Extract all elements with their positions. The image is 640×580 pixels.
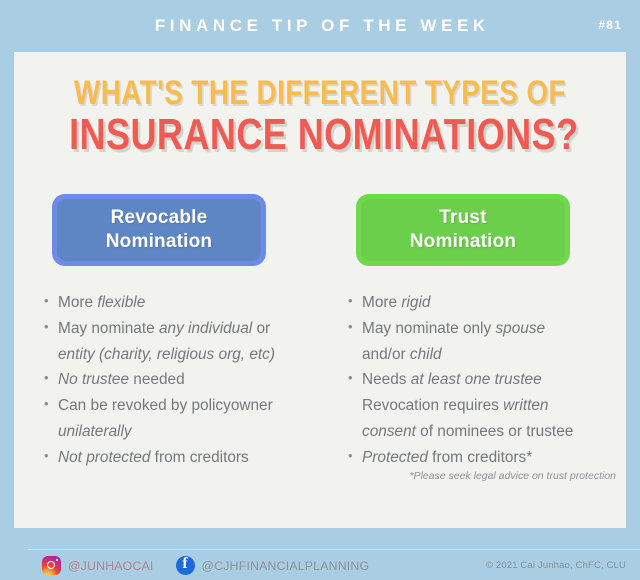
social-link-facebook[interactable]: @CJHFINANCIALPLANNING	[176, 556, 370, 575]
list-item: More rigid	[346, 292, 618, 315]
header-title: FINANCE TIP OF THE WEEK	[0, 16, 640, 36]
column-revocable-nomination: Revocable Nomination More flexibleMay no…	[24, 194, 316, 473]
bullet-list-trust: More rigidMay nominate only spouseand/or…	[346, 292, 618, 470]
list-item: May nominate any individual or	[42, 318, 310, 341]
poster: FINANCE TIP OF THE WEEK #81 WHAT'S THE D…	[0, 0, 640, 536]
page-title: WHAT'S THE DIFFERENT TYPES OF INSURANCE …	[14, 76, 626, 158]
list-item: May nominate only spouse	[346, 318, 618, 341]
heading-pill-trust-line-1: Trust	[439, 207, 486, 228]
page-title-line-2: INSURANCE NOMINATIONS?	[69, 113, 571, 158]
list-item-continuation: consent of nominees or trustee	[346, 421, 618, 444]
list-item: Protected from creditors*	[346, 447, 618, 470]
column-trust-nomination: Trust Nomination More rigidMay nominate …	[326, 194, 618, 473]
list-item: Needs at least one trustee	[346, 369, 618, 392]
list-item: More flexible	[42, 292, 310, 315]
list-item-continuation: unilaterally	[42, 421, 310, 444]
heading-pill-revocable-line-1: Revocable	[111, 207, 208, 228]
heading-pill-trust: Trust Nomination	[356, 194, 570, 266]
copyright-notice: © 2021 Cai Junhao, ChFC, CLU	[486, 560, 626, 571]
instagram-handle: @JUNHAOCAI	[68, 559, 154, 573]
list-item-continuation: Revocation requires written	[346, 395, 618, 418]
instagram-icon	[42, 556, 61, 575]
social-links: @JUNHAOCAI @CJHFINANCIALPLANNING	[42, 556, 391, 575]
heading-pill-revocable-line-2: Nomination	[106, 231, 213, 252]
footer: @JUNHAOCAI @CJHFINANCIALPLANNING © 2021 …	[28, 550, 640, 580]
social-link-instagram[interactable]: @JUNHAOCAI	[42, 556, 154, 575]
list-item: Can be revoked by policyowner	[42, 395, 310, 418]
list-item-continuation: entity (charity, religious org, etc)	[42, 344, 310, 367]
bullet-list-revocable: More flexibleMay nominate any individual…	[42, 292, 310, 470]
footnote: *Please seek legal advice on trust prote…	[216, 470, 616, 482]
page-title-line-1: WHAT'S THE DIFFERENT TYPES OF	[69, 76, 571, 111]
issue-number: #81	[598, 18, 622, 32]
header-band: FINANCE TIP OF THE WEEK #81	[0, 0, 640, 52]
facebook-handle: @CJHFINANCIALPLANNING	[202, 559, 370, 573]
facebook-icon	[176, 556, 195, 575]
list-item: Not protected from creditors	[42, 447, 310, 470]
heading-pill-trust-line-2: Nomination	[410, 231, 517, 252]
heading-pill-revocable: Revocable Nomination	[52, 194, 266, 266]
list-item-continuation: and/or child	[346, 344, 618, 367]
list-item: No trustee needed	[42, 369, 310, 392]
content-panel: WHAT'S THE DIFFERENT TYPES OF INSURANCE …	[14, 52, 626, 528]
